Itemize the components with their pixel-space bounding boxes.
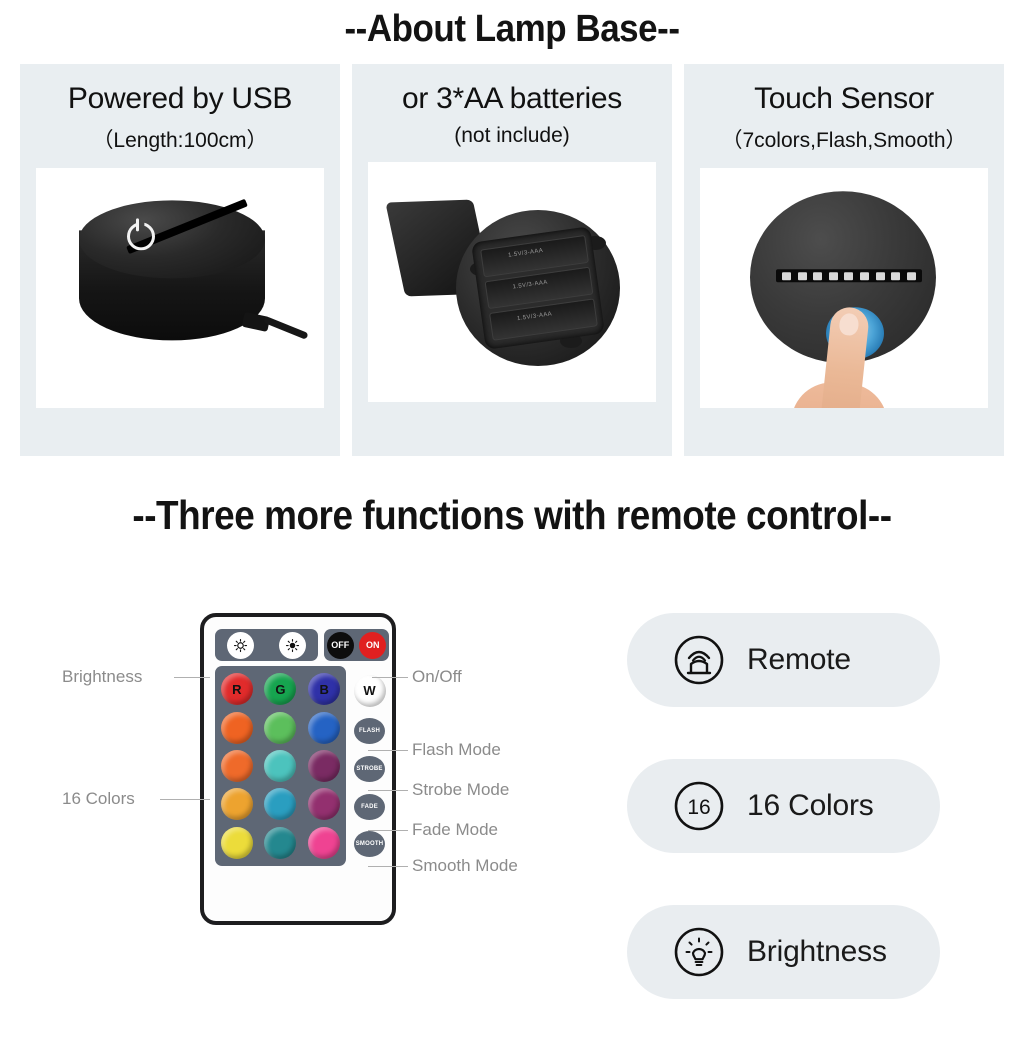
card-title: Touch Sensor	[754, 82, 934, 116]
base-top-surface	[79, 200, 265, 278]
color-button-8[interactable]	[264, 750, 296, 782]
sun-dim-icon	[233, 638, 248, 653]
touch-sensor-illustration	[734, 187, 954, 397]
led-dot-icon	[876, 272, 885, 280]
color-button-9[interactable]	[308, 750, 340, 782]
led-dot-icon	[829, 272, 838, 280]
callout-flash-mode: Flash Mode	[412, 740, 501, 760]
remote-signal-icon	[673, 634, 725, 686]
battery-slot-label: 1.5V/3-AAA	[512, 280, 548, 291]
callout-16-colors: 16 Colors	[62, 789, 135, 809]
feature-label: Brightness	[747, 935, 887, 969]
power-symbol-icon	[127, 222, 155, 250]
feature-label: 16 Colors	[747, 789, 874, 823]
sun-bright-icon	[285, 638, 300, 653]
color-button-12[interactable]	[308, 788, 340, 820]
leader-line-flash	[368, 750, 408, 751]
feature-pill-remote[interactable]: Remote	[627, 613, 940, 707]
battery-bay: 1.5V/3-AAA 1.5V/3-AAA 1.5V/3-AAA	[471, 226, 605, 350]
color-button-grid: RGB	[215, 666, 346, 866]
page-title-remote-functions: --Three more functions with remote contr…	[51, 492, 973, 539]
color-button-b[interactable]: B	[308, 673, 340, 705]
callout-fade-mode: Fade Mode	[412, 820, 498, 840]
leader-line-fade	[368, 830, 408, 831]
led-strip	[776, 269, 922, 282]
callout-smooth-mode: Smooth Mode	[412, 856, 518, 876]
sixteen-badge-text: 16	[687, 796, 710, 819]
card-title: or 3*AA batteries	[402, 82, 622, 116]
lamp-base-illustration	[65, 194, 295, 374]
leader-line-brightness	[174, 677, 210, 678]
card-subtitle: （Length:100cm）	[92, 124, 267, 154]
battery-compartment-photo: 1.5V/3-AAA 1.5V/3-AAA 1.5V/3-AAA	[368, 162, 656, 402]
led-dot-icon	[891, 272, 900, 280]
smooth-mode-button[interactable]: SMOOTH	[354, 831, 385, 857]
led-dot-icon	[844, 272, 853, 280]
base-underside-disc: 1.5V/3-AAA 1.5V/3-AAA 1.5V/3-AAA	[456, 210, 620, 366]
lamp-base-usb-photo	[36, 168, 324, 408]
led-dot-icon	[907, 272, 916, 280]
card-powered-by-usb: Powered by USB （Length:100cm）	[20, 64, 340, 456]
card-subtitle: （7colors,Flash,Smooth）	[721, 124, 966, 154]
brightness-button-group	[215, 629, 318, 661]
fade-mode-button[interactable]: FADE	[354, 794, 385, 820]
flash-mode-button[interactable]: FLASH	[354, 718, 385, 744]
power-off-button[interactable]: OFF	[327, 632, 354, 659]
lamp-base-card-row: Powered by USB （Length:100cm） or 3*AA ba…	[20, 64, 1004, 456]
card-aa-batteries: or 3*AA batteries (not include) 1.5V/3-A…	[352, 64, 672, 456]
usb-cable	[263, 316, 308, 340]
color-button-5[interactable]	[264, 712, 296, 744]
led-dot-icon	[813, 272, 822, 280]
power-on-button[interactable]: ON	[359, 632, 386, 659]
color-button-4[interactable]	[221, 712, 253, 744]
leader-line-on-off	[372, 677, 408, 678]
power-button-group: OFF ON	[324, 629, 389, 661]
color-button-6[interactable]	[308, 712, 340, 744]
page-title-about-lamp-base: --About Lamp Base--	[41, 8, 983, 51]
color-button-g[interactable]: G	[264, 673, 296, 705]
remote-control[interactable]: OFF ON RGB W FLASH STROBE FADE SMOOTH	[200, 613, 396, 925]
led-dot-icon	[782, 272, 791, 280]
leader-line-16-colors	[160, 799, 210, 800]
color-button-10[interactable]	[221, 788, 253, 820]
color-button-13[interactable]	[221, 827, 253, 859]
led-dot-icon	[860, 272, 869, 280]
battery-slot-label: 1.5V/3-AAA	[517, 311, 553, 322]
battery-base-illustration: 1.5V/3-AAA 1.5V/3-AAA 1.5V/3-AAA	[394, 182, 630, 382]
color-button-11[interactable]	[264, 788, 296, 820]
color-button-7[interactable]	[221, 750, 253, 782]
leader-line-strobe	[368, 790, 408, 791]
color-button-15[interactable]	[308, 827, 340, 859]
feature-pill-16-colors[interactable]: 16 16 Colors	[627, 759, 940, 853]
mode-button-column: W FLASH STROBE FADE SMOOTH	[350, 666, 389, 866]
feature-pill-list: Remote 16 16 Colors	[627, 613, 940, 1051]
sixteen-circle-icon: 16	[673, 780, 725, 832]
card-touch-sensor: Touch Sensor （7colors,Flash,Smooth）	[684, 64, 1004, 456]
brightness-down-button[interactable]	[227, 632, 254, 659]
brightness-up-button[interactable]	[279, 632, 306, 659]
strobe-mode-button[interactable]: STROBE	[354, 756, 385, 782]
feature-label: Remote	[747, 643, 851, 677]
color-button-r[interactable]: R	[221, 673, 253, 705]
callout-on-off: On/Off	[412, 667, 462, 687]
callout-strobe-mode: Strobe Mode	[412, 780, 509, 800]
bulb-icon	[673, 926, 725, 978]
power-symbol-bar-icon	[136, 218, 139, 231]
white-color-button[interactable]: W	[354, 675, 386, 707]
card-title: Powered by USB	[68, 82, 292, 116]
touch-sensor-photo	[700, 168, 988, 408]
card-subtitle: (not include)	[454, 124, 570, 148]
battery-slot-label: 1.5V/3-AAA	[508, 248, 544, 259]
feature-pill-brightness[interactable]: Brightness	[627, 905, 940, 999]
fingernail	[838, 312, 859, 336]
leader-line-smooth	[368, 866, 408, 867]
callout-brightness: Brightness	[62, 667, 142, 687]
led-dot-icon	[798, 272, 807, 280]
color-button-14[interactable]	[264, 827, 296, 859]
